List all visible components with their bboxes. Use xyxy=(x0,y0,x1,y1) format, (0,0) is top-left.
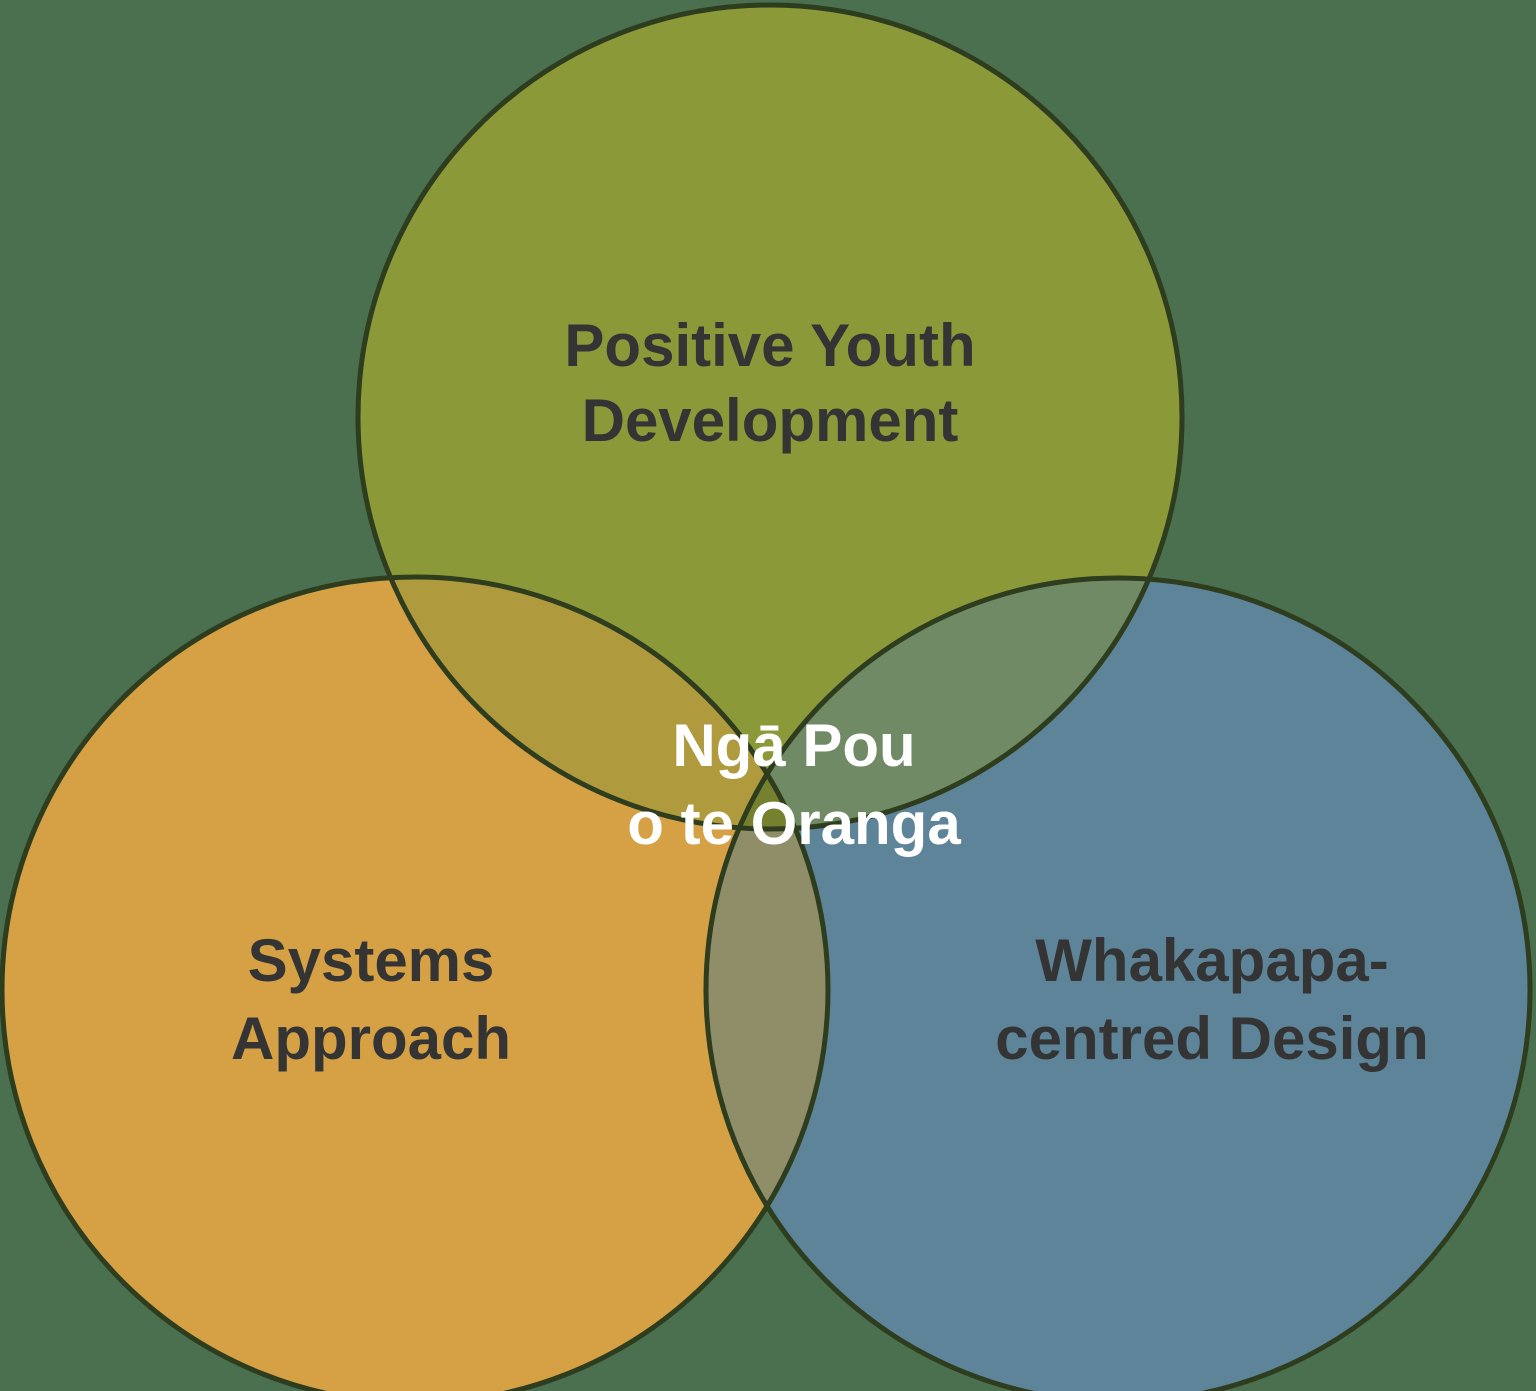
venn-canvas: Positive Youth Development Systems Appro… xyxy=(0,0,1536,1391)
label-pyd-line2: Development xyxy=(582,387,959,454)
label-center-line2: o te Oranga xyxy=(627,790,961,857)
label-pyd-line1: Positive Youth xyxy=(564,312,975,379)
label-center-line1: Ngā Pou xyxy=(672,712,915,779)
venn-diagram: Positive Youth Development Systems Appro… xyxy=(0,0,1536,1391)
label-systems-line2: Approach xyxy=(231,1005,511,1072)
label-systems-line1: Systems xyxy=(248,927,495,994)
label-whakapapa-line2: centred Design xyxy=(995,1005,1428,1072)
label-whakapapa-line1: Whakapapa- xyxy=(1035,927,1388,994)
